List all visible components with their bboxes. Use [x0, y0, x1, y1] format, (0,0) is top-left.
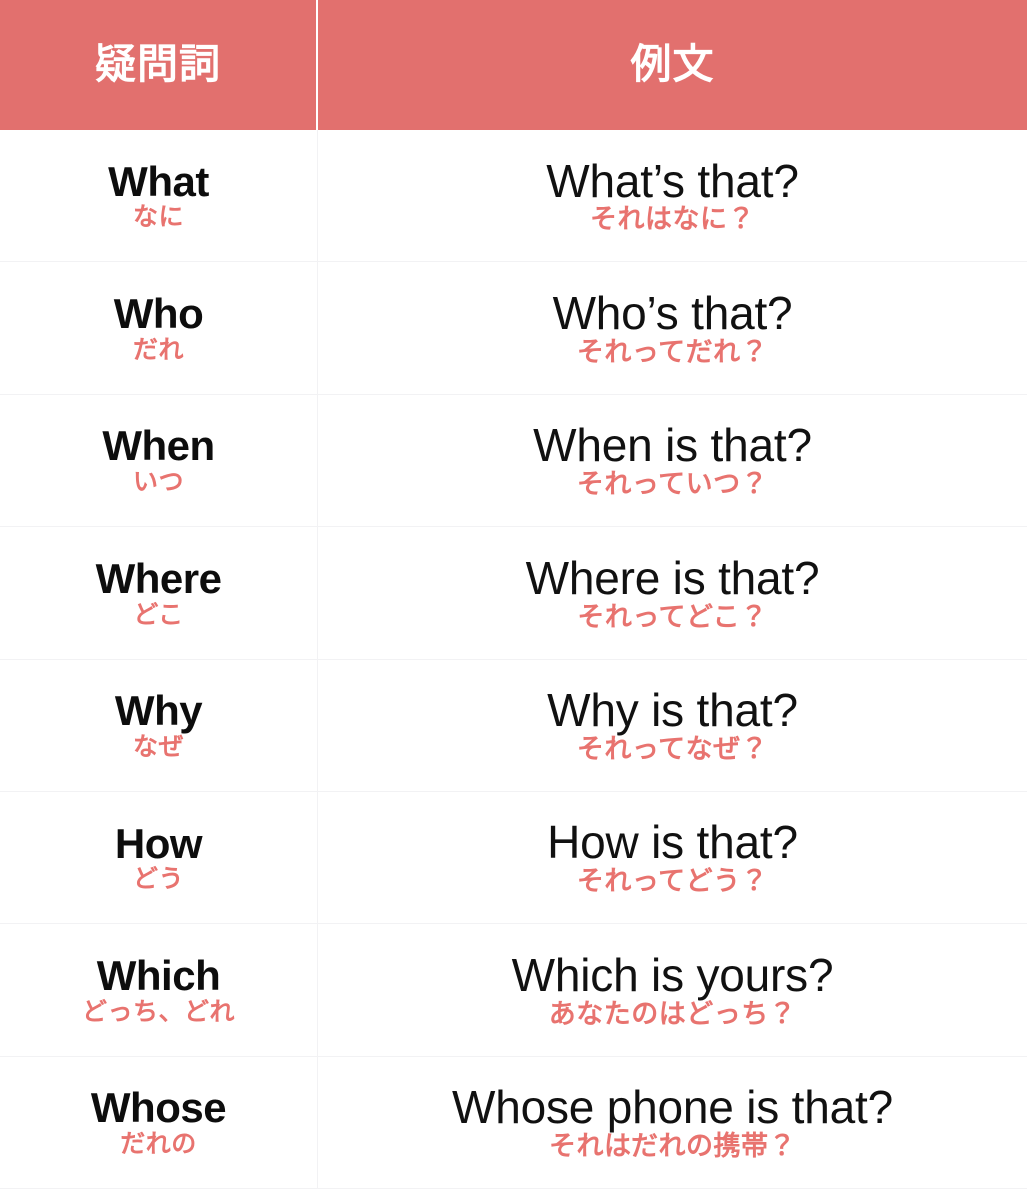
example-sentence-japanese: それってなぜ？ [577, 735, 768, 763]
question-word-english: Where [96, 558, 222, 601]
example-sentence-cell: What’s that? それはなに？ [318, 130, 1027, 261]
example-sentence-japanese: それってどう？ [577, 867, 768, 895]
question-word-english: How [115, 823, 202, 866]
example-sentence-cell: Why is that? それってなぜ？ [318, 660, 1027, 791]
table-row: Why なぜ Why is that? それってなぜ？ [0, 660, 1027, 792]
question-word-english: Why [115, 690, 202, 733]
question-word-english: Whose [91, 1087, 226, 1130]
table-row: When いつ When is that? それっていつ？ [0, 395, 1027, 527]
question-word-cell: How どう [0, 792, 318, 923]
column-header-question-word: 疑問詞 [0, 0, 318, 130]
table-row: Whose だれの Whose phone is that? それはだれの携帯？ [0, 1057, 1027, 1189]
question-word-japanese: なぜ [133, 734, 184, 760]
question-word-japanese: どっち、どれ [82, 999, 235, 1025]
example-sentence-cell: When is that? それっていつ？ [318, 395, 1027, 526]
question-word-japanese: どう [133, 866, 184, 892]
table-body: What なに What’s that? それはなに？ Who だれ Who’s… [0, 130, 1027, 1189]
table-row: Which どっち、どれ Which is yours? あなたのはどっち？ [0, 924, 1027, 1056]
question-word-english: Which [97, 955, 220, 998]
table-row: Where どこ Where is that? それってどこ？ [0, 527, 1027, 659]
example-sentence-cell: Where is that? それってどこ？ [318, 527, 1027, 658]
column-header-example-sentence: 例文 [318, 0, 1027, 130]
example-sentence-japanese: それってだれ？ [577, 338, 768, 366]
table-row: Who だれ Who’s that? それってだれ？ [0, 262, 1027, 394]
example-sentence-english: Who’s that? [553, 290, 793, 337]
question-word-japanese: いつ [133, 469, 184, 495]
question-word-cell: Where どこ [0, 527, 318, 658]
column-header-example-sentence-label: 例文 [631, 44, 715, 85]
question-words-table: 疑問詞 例文 What なに What’s that? それはなに？ Who だ… [0, 0, 1027, 1189]
example-sentence-japanese: それはだれの携帯？ [549, 1132, 796, 1160]
question-word-cell: Which どっち、どれ [0, 924, 318, 1055]
question-word-english: Who [114, 293, 203, 336]
example-sentence-cell: Whose phone is that? それはだれの携帯？ [318, 1057, 1027, 1188]
question-word-cell: Whose だれの [0, 1057, 318, 1188]
example-sentence-english: Whose phone is that? [452, 1084, 893, 1131]
example-sentence-english: Which is yours? [512, 952, 834, 999]
question-word-japanese: なに [133, 204, 184, 230]
example-sentence-japanese: それはなに？ [590, 205, 755, 233]
question-word-cell: What なに [0, 130, 318, 261]
example-sentence-english: What’s that? [546, 158, 798, 205]
example-sentence-cell: Who’s that? それってだれ？ [318, 262, 1027, 393]
example-sentence-japanese: それっていつ？ [577, 470, 768, 498]
example-sentence-english: How is that? [547, 819, 798, 866]
example-sentence-english: Why is that? [547, 687, 798, 734]
example-sentence-english: Where is that? [526, 555, 820, 602]
example-sentence-cell: How is that? それってどう？ [318, 792, 1027, 923]
question-word-japanese: だれの [120, 1131, 197, 1157]
example-sentence-english: When is that? [533, 422, 812, 469]
example-sentence-cell: Which is yours? あなたのはどっち？ [318, 924, 1027, 1055]
column-header-question-word-label: 疑問詞 [95, 44, 221, 85]
question-word-english: When [102, 425, 214, 468]
table-header-row: 疑問詞 例文 [0, 0, 1027, 130]
question-word-cell: When いつ [0, 395, 318, 526]
question-word-japanese: どこ [133, 602, 183, 628]
example-sentence-japanese: あなたのはどっち？ [549, 1000, 797, 1028]
example-sentence-japanese: それってどこ？ [577, 603, 767, 631]
question-word-english: What [108, 161, 209, 204]
table-row: What なに What’s that? それはなに？ [0, 130, 1027, 262]
question-word-japanese: だれ [133, 337, 184, 363]
table-row: How どう How is that? それってどう？ [0, 792, 1027, 924]
question-word-cell: Why なぜ [0, 660, 318, 791]
question-word-cell: Who だれ [0, 262, 318, 393]
